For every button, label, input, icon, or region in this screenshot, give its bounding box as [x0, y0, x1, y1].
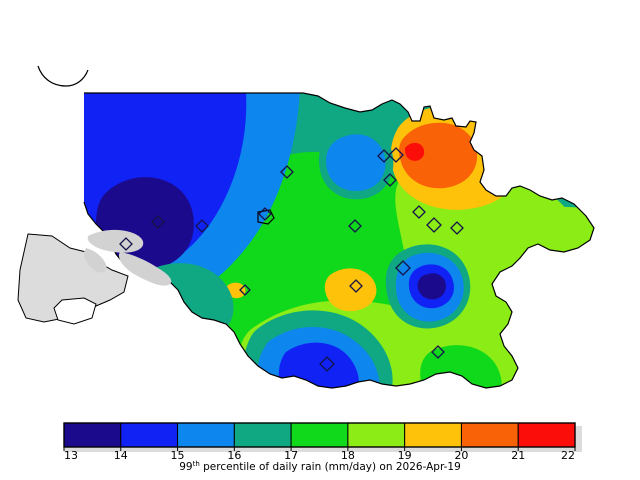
colorbar-band-13-14	[64, 423, 121, 447]
contour-band-15-16-north-pocket	[326, 134, 385, 191]
colorbar-band-21-22	[518, 423, 575, 447]
colorbar-panel: 13141516171819202122 99th percentile of …	[0, 418, 640, 480]
colorbar-caption: 99th percentile of daily rain (mm/day) o…	[179, 460, 461, 473]
colorbar-band-19-20	[405, 423, 462, 447]
colorbar-bands	[64, 423, 575, 447]
weather-map-page: VictoriaWeather.ca -- Summer Total Daily…	[0, 0, 640, 480]
colorbar-tick-label: 13	[64, 449, 78, 462]
colorbar: 13141516171819202122 99th percentile of …	[0, 418, 640, 480]
colorbar-band-18-19	[348, 423, 405, 447]
colorbar-tick-label: 22	[561, 449, 575, 462]
colorbar-band-14-15	[121, 423, 178, 447]
contour-band-19-20-central	[325, 268, 377, 311]
colorbar-band-20-21	[461, 423, 518, 447]
rainfall-contour-map	[0, 0, 640, 418]
colorbar-band-17-18	[291, 423, 348, 447]
colorbar-band-15-16	[178, 423, 235, 447]
colorbar-band-16-17	[234, 423, 291, 447]
